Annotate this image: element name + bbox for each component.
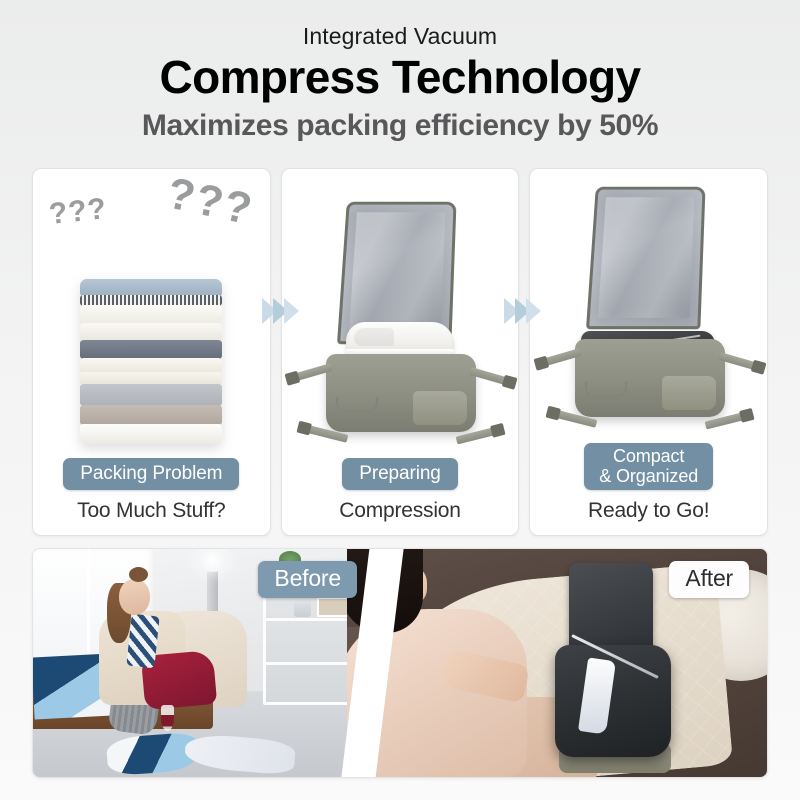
clothes-layer-taupe [80, 405, 222, 425]
open-suitcase-packed-illustration [282, 169, 519, 458]
step-badge-compact-organized: Compact & Organized [584, 443, 713, 490]
clothes-layer-blue [80, 279, 222, 296]
compressed-bag-lid [569, 563, 653, 657]
plaid-scarf [126, 614, 159, 669]
clothes-layer-cream-2 [80, 323, 222, 341]
suitcase-open [312, 200, 488, 450]
page-subtitle: Maximizes packing efficiency by 50% [0, 109, 800, 144]
white-sneakers [346, 322, 454, 358]
step-caption-compact-organized: Ready to Go! [588, 499, 709, 535]
after-label-badge: After [669, 561, 749, 598]
step-panel-compact-organized: Compact & Organized Ready to Go! [529, 168, 768, 536]
suitcase-handle [336, 397, 378, 412]
before-label-badge: Before [258, 561, 357, 598]
steps-row: ??? ??? Packing Problem Too Much Stuff? [32, 168, 768, 536]
suitcase-pocket [413, 391, 467, 425]
flow-arrow-one [262, 298, 299, 324]
chevron-right-icon [526, 298, 541, 324]
step-badge-packing-problem: Packing Problem [63, 458, 239, 490]
before-photo: Before [33, 549, 373, 777]
clothes-stack-illustration: ??? ??? [33, 169, 270, 458]
suitcase-handle [585, 382, 627, 397]
page-title: Compress Technology [0, 52, 800, 104]
woman-hair-bun [129, 567, 148, 582]
step-panel-packing-problem: ??? ??? Packing Problem Too Much Stuff? [32, 168, 271, 536]
step-panel-preparing: Preparing Compression [281, 168, 520, 536]
clothes-layer-ivory [80, 358, 222, 373]
step-badge-preparing: Preparing [342, 458, 457, 490]
picture-frame [317, 597, 349, 617]
chevron-right-icon [284, 298, 299, 324]
before-after-comparison: Before After [32, 548, 768, 778]
clothes-layer-cream [80, 305, 222, 324]
open-suitcase-compressed-illustration [530, 169, 767, 443]
header: Integrated Vacuum Compress Technology Ma… [0, 0, 800, 143]
suitcase-lid [586, 186, 706, 329]
clothes-layer-white [80, 424, 222, 444]
clothes-layer-gray [80, 384, 222, 406]
flow-arrow-two [504, 298, 541, 324]
wine-glass [161, 705, 174, 731]
question-marks-small-icon: ??? [47, 192, 108, 232]
question-marks-large-icon: ??? [163, 169, 258, 236]
suitcase-open-compressed [561, 185, 737, 435]
step-caption-preparing: Compression [339, 499, 461, 535]
storage-jar [294, 595, 311, 617]
suitcase-body [326, 354, 476, 432]
suitcase-body [575, 339, 725, 417]
step-caption-packing-problem: Too Much Stuff? [77, 499, 225, 535]
folded-clothes-stack [80, 280, 222, 444]
clothes-layer-slate [80, 340, 222, 359]
woman-head-before [119, 579, 150, 615]
suitcase-pocket [662, 376, 716, 410]
eyebrow-text: Integrated Vacuum [0, 24, 800, 49]
after-photo: After [347, 549, 767, 777]
